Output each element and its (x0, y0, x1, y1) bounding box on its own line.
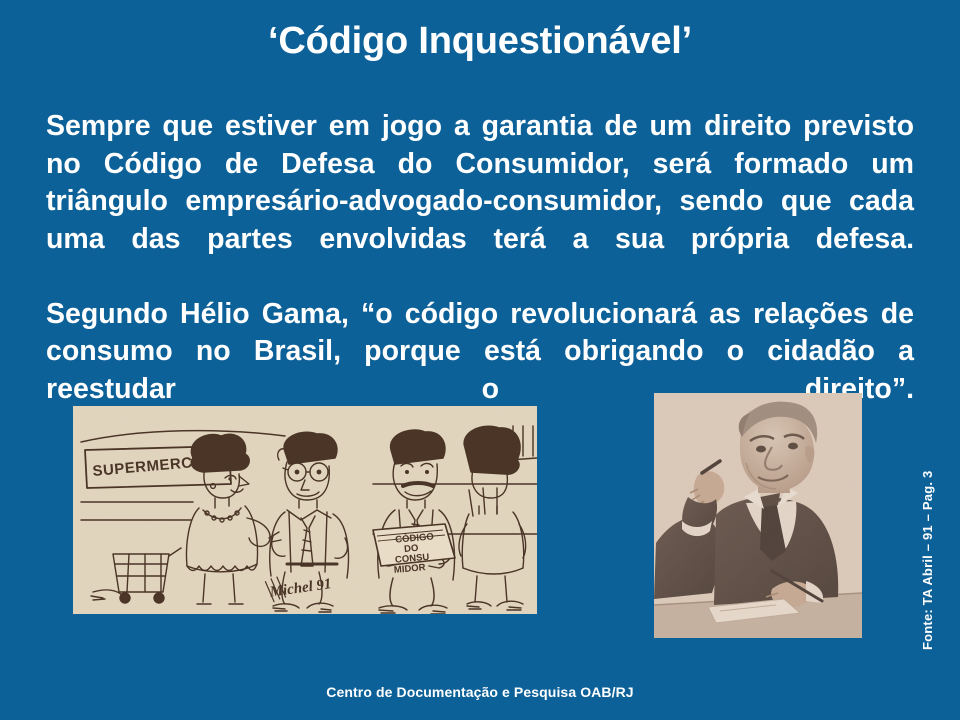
body-paragraph-1: Sempre que estiver em jogo a garantia de… (46, 108, 914, 296)
page-title: ‘Código Inquestionável’ (0, 18, 960, 64)
portrait-photo-svg (654, 393, 862, 638)
slide-canvas: ‘Código Inquestionável’ Sempre que estiv… (0, 0, 960, 720)
footer-credit: Centro de Documentação e Pesquisa OAB/RJ (0, 684, 960, 700)
cartoon-illustration: SUPERMERCADO (73, 406, 537, 614)
portrait-photo (654, 393, 862, 638)
source-attribution: Fonte: TA Abril – 91 – Pag. 3 (906, 255, 921, 455)
source-attribution-text: Fonte: TA Abril – 91 – Pag. 3 (920, 471, 935, 650)
cartoon-svg: SUPERMERCADO (73, 406, 537, 614)
